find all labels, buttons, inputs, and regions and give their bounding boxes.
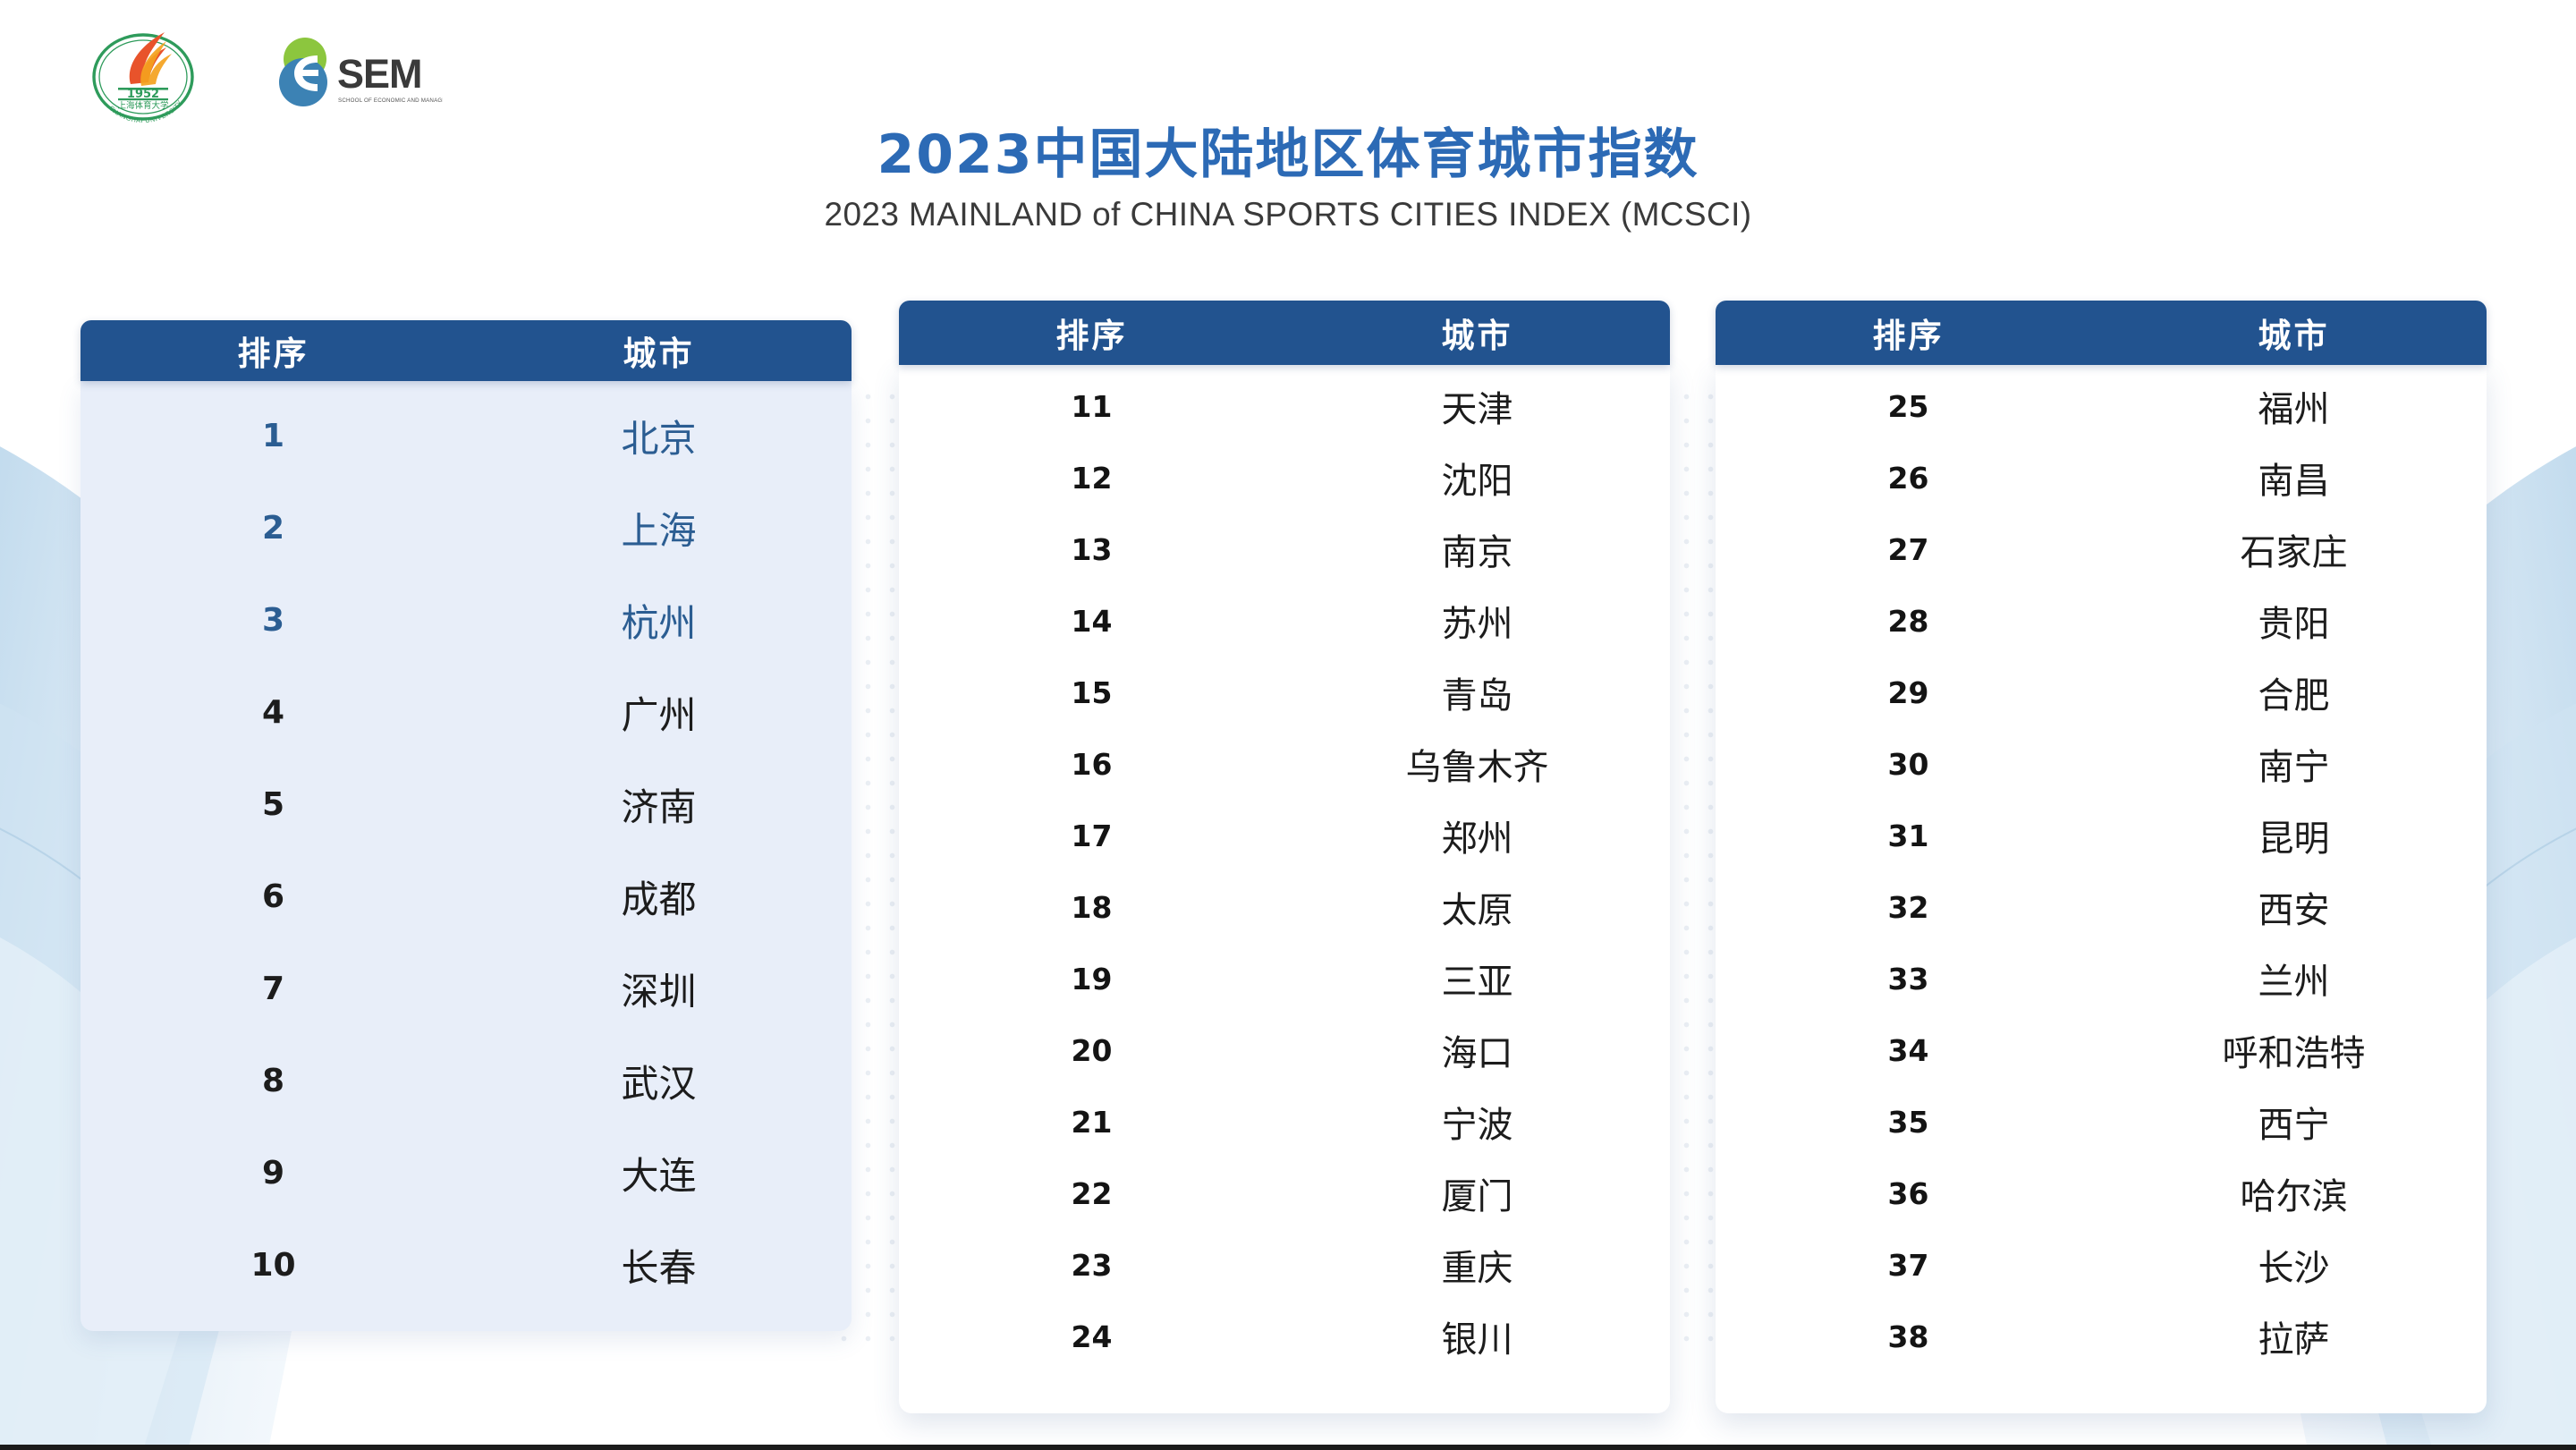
table-2-header-row: 排序 城市: [899, 301, 1670, 365]
logo-group: 1952 上海体育大学 SHANGHAI UNIVERSITY OF SPORT…: [89, 20, 443, 127]
cell-city: 福州: [2101, 380, 2487, 432]
table-row: 2上海: [80, 482, 852, 574]
cell-city: 武汉: [466, 1054, 852, 1108]
table-row: 9大连: [80, 1127, 852, 1219]
cell-rank: 14: [899, 604, 1284, 639]
column-header-city: 城市: [2101, 309, 2487, 357]
cell-rank: 7: [80, 971, 466, 1007]
table-row: 36哈尔滨: [1716, 1157, 2487, 1229]
table-row: 37长沙: [1716, 1229, 2487, 1301]
page-title-en: 2023 MAINLAND of CHINA SPORTS CITIES IND…: [0, 196, 2576, 233]
cell-city: 合肥: [2101, 666, 2487, 718]
cell-city: 兰州: [2101, 953, 2487, 1005]
cell-city: 成都: [466, 869, 852, 924]
cell-city: 杭州: [466, 593, 852, 648]
cell-rank: 5: [80, 786, 466, 823]
table-row: 6成都: [80, 851, 852, 943]
ranking-table-3: 排序 城市 25福州26南昌27石家庄28贵阳29合肥30南宁31昆明32西安3…: [1716, 301, 2487, 1413]
column-header-city: 城市: [1284, 309, 1670, 357]
slide-root: 1952 上海体育大学 SHANGHAI UNIVERSITY OF SPORT…: [0, 0, 2576, 1450]
cell-rank: 23: [899, 1248, 1284, 1283]
table-row: 21宁波: [899, 1086, 1670, 1157]
cell-city: 济南: [466, 777, 852, 832]
cell-rank: 12: [899, 461, 1284, 496]
cell-rank: 28: [1716, 604, 2101, 639]
ranking-table-2: 排序 城市 11天津12沈阳13南京14苏州15青岛16乌鲁木齐17郑州18太原…: [899, 301, 1670, 1413]
table-row: 30南宁: [1716, 728, 2487, 800]
cell-city: 太原: [1284, 881, 1670, 933]
cell-city: 哈尔滨: [2101, 1167, 2487, 1219]
cell-city: 南昌: [2101, 452, 2487, 504]
cell-rank: 22: [899, 1176, 1284, 1211]
cell-city: 厦门: [1284, 1167, 1670, 1219]
cell-rank: 24: [899, 1319, 1284, 1354]
cell-rank: 31: [1716, 818, 2101, 853]
table-row: 31昆明: [1716, 800, 2487, 871]
cell-rank: 16: [899, 747, 1284, 782]
cell-city: 三亚: [1284, 953, 1670, 1005]
svg-text:SEM: SEM: [337, 51, 422, 97]
cell-rank: 33: [1716, 962, 2101, 996]
cell-rank: 38: [1716, 1319, 2101, 1354]
cell-rank: 3: [80, 602, 466, 639]
table-row: 15青岛: [899, 657, 1670, 728]
bottom-edge-bar: [0, 1445, 2576, 1450]
table-row: 19三亚: [899, 943, 1670, 1014]
table-row: 12沈阳: [899, 442, 1670, 513]
cell-rank: 8: [80, 1063, 466, 1099]
cell-rank: 20: [899, 1033, 1284, 1068]
cell-rank: 1: [80, 418, 466, 454]
cell-city: 重庆: [1284, 1239, 1670, 1291]
cell-rank: 25: [1716, 389, 2101, 424]
table-row: 38拉萨: [1716, 1301, 2487, 1372]
cell-rank: 17: [899, 818, 1284, 853]
cell-rank: 19: [899, 962, 1284, 996]
table-row: 22厦门: [899, 1157, 1670, 1229]
cell-city: 宁波: [1284, 1096, 1670, 1148]
cell-rank: 11: [899, 389, 1284, 424]
cell-city: 南京: [1284, 523, 1670, 575]
cell-rank: 15: [899, 675, 1284, 710]
table-row: 27石家庄: [1716, 513, 2487, 585]
table-row: 10长春: [80, 1219, 852, 1311]
column-header-rank: 排序: [899, 309, 1284, 357]
table-row: 25福州: [1716, 370, 2487, 442]
table-row: 3杭州: [80, 574, 852, 666]
table-row: 35西宁: [1716, 1086, 2487, 1157]
table-row: 7深圳: [80, 943, 852, 1035]
cell-city: 呼和浩特: [2101, 1024, 2487, 1076]
cell-city: 广州: [466, 685, 852, 740]
table-row: 26南昌: [1716, 442, 2487, 513]
cell-city: 西安: [2101, 881, 2487, 933]
column-header-rank: 排序: [80, 326, 466, 375]
cell-city: 西宁: [2101, 1096, 2487, 1148]
table-row: 24银川: [899, 1301, 1670, 1372]
cell-rank: 10: [80, 1247, 466, 1284]
cell-rank: 34: [1716, 1033, 2101, 1068]
cell-city: 南宁: [2101, 738, 2487, 790]
cell-city: 郑州: [1284, 810, 1670, 861]
cell-city: 贵阳: [2101, 595, 2487, 647]
cell-rank: 4: [80, 694, 466, 731]
cell-rank: 36: [1716, 1176, 2101, 1211]
table-2-body: 11天津12沈阳13南京14苏州15青岛16乌鲁木齐17郑州18太原19三亚20…: [899, 365, 1670, 1413]
cell-rank: 6: [80, 878, 466, 915]
table-row: 34呼和浩特: [1716, 1014, 2487, 1086]
cell-rank: 2: [80, 510, 466, 547]
table-row: 14苏州: [899, 585, 1670, 657]
cell-city: 青岛: [1284, 666, 1670, 718]
cell-city: 拉萨: [2101, 1310, 2487, 1362]
column-header-rank: 排序: [1716, 309, 2101, 357]
table-row: 4广州: [80, 666, 852, 759]
title-block: 2023中国大陆地区体育城市指数 2023 MAINLAND of CHINA …: [0, 125, 2576, 233]
sem-logo-icon: SEM SCHOOL OF ECONOMIC AND MANAGEMENT OF…: [273, 32, 443, 114]
cell-city: 海口: [1284, 1024, 1670, 1076]
cell-city: 大连: [466, 1146, 852, 1200]
cell-city: 天津: [1284, 380, 1670, 432]
table-3-body: 25福州26南昌27石家庄28贵阳29合肥30南宁31昆明32西安33兰州34呼…: [1716, 365, 2487, 1413]
table-row: 11天津: [899, 370, 1670, 442]
table-row: 20海口: [899, 1014, 1670, 1086]
column-header-city: 城市: [466, 326, 852, 375]
cell-city: 沈阳: [1284, 452, 1670, 504]
svg-text:SCHOOL OF ECONOMIC AND MANAGEM: SCHOOL OF ECONOMIC AND MANAGEMENT OF SUS: [338, 98, 443, 104]
table-row: 13南京: [899, 513, 1670, 585]
cell-city: 上海: [466, 501, 852, 555]
page-title-cn: 2023中国大陆地区体育城市指数: [0, 125, 2576, 185]
cell-rank: 21: [899, 1105, 1284, 1140]
table-row: 8武汉: [80, 1035, 852, 1127]
cell-city: 深圳: [466, 962, 852, 1016]
cell-rank: 9: [80, 1155, 466, 1191]
table-row: 23重庆: [899, 1229, 1670, 1301]
table-1-header-row: 排序 城市: [80, 320, 852, 381]
table-row: 16乌鲁木齐: [899, 728, 1670, 800]
cell-city: 石家庄: [2101, 523, 2487, 575]
table-row: 17郑州: [899, 800, 1670, 871]
cell-rank: 26: [1716, 461, 2101, 496]
cell-city: 银川: [1284, 1310, 1670, 1362]
shanghai-university-of-sport-logo-icon: 1952 上海体育大学 SHANGHAI UNIVERSITY OF SPORT: [89, 20, 197, 127]
table-row: 1北京: [80, 390, 852, 482]
cell-rank: 37: [1716, 1248, 2101, 1283]
cell-rank: 35: [1716, 1105, 2101, 1140]
table-row: 5济南: [80, 759, 852, 851]
cell-city: 苏州: [1284, 595, 1670, 647]
cell-rank: 29: [1716, 675, 2101, 710]
ranking-table-1: 排序 城市 1北京2上海3杭州4广州5济南6成都7深圳8武汉9大连10长春: [80, 320, 852, 1331]
cell-city: 长春: [466, 1238, 852, 1293]
cell-city: 乌鲁木齐: [1284, 738, 1670, 790]
table-row: 18太原: [899, 871, 1670, 943]
cell-city: 北京: [466, 409, 852, 463]
table-3-header-row: 排序 城市: [1716, 301, 2487, 365]
table-row: 28贵阳: [1716, 585, 2487, 657]
table-row: 32西安: [1716, 871, 2487, 943]
table-1-body: 1北京2上海3杭州4广州5济南6成都7深圳8武汉9大连10长春: [80, 381, 852, 1331]
svg-text:1952: 1952: [127, 88, 159, 101]
cell-rank: 18: [899, 890, 1284, 925]
cell-rank: 27: [1716, 532, 2101, 567]
svg-text:上海体育大学: 上海体育大学: [117, 100, 168, 111]
cell-city: 昆明: [2101, 810, 2487, 861]
cell-rank: 30: [1716, 747, 2101, 782]
cell-rank: 32: [1716, 890, 2101, 925]
cell-rank: 13: [899, 532, 1284, 567]
table-row: 33兰州: [1716, 943, 2487, 1014]
table-row: 29合肥: [1716, 657, 2487, 728]
cell-city: 长沙: [2101, 1239, 2487, 1291]
